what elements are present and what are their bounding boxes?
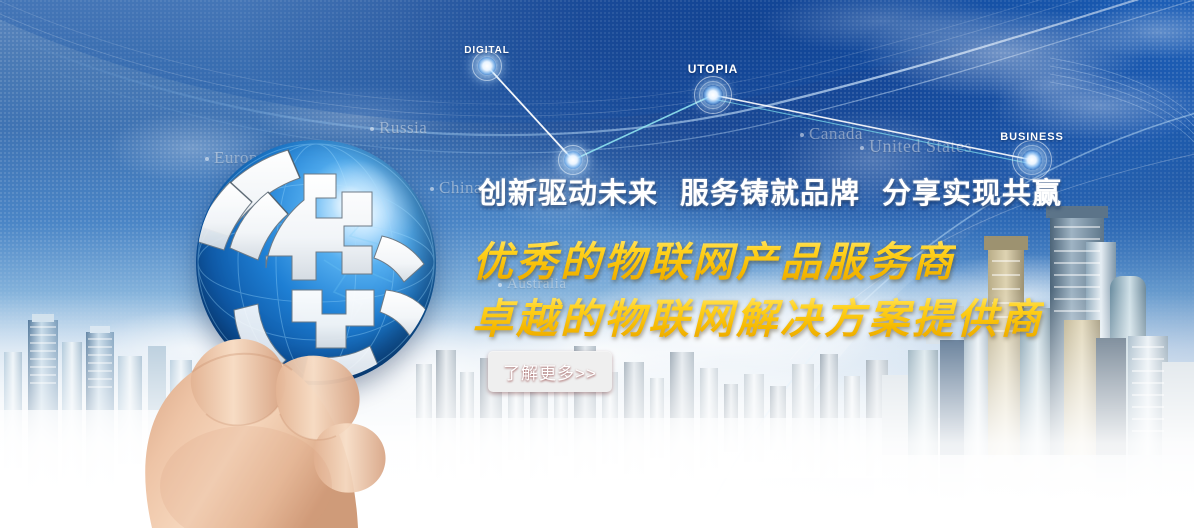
hand-holding-globe <box>96 236 426 528</box>
subheadline-line-2: 卓越的物联网解决方案提供商 <box>472 285 1044 345</box>
hero-banner: Russia Europe China Canada United States… <box>0 0 1194 528</box>
headline-part-1: 创新驱动未来 <box>478 178 658 210</box>
headline-part-2: 服务铸就品牌 <box>680 178 860 210</box>
headline-part-3: 分享实现共赢 <box>882 178 1062 210</box>
learn-more-button[interactable]: 了解更多>> <box>488 351 612 392</box>
page-title: 创新驱动未来服务铸就品牌分享实现共赢 <box>478 170 1062 212</box>
subheadline-line-1: 优秀的物联网产品服务商 <box>472 228 956 288</box>
